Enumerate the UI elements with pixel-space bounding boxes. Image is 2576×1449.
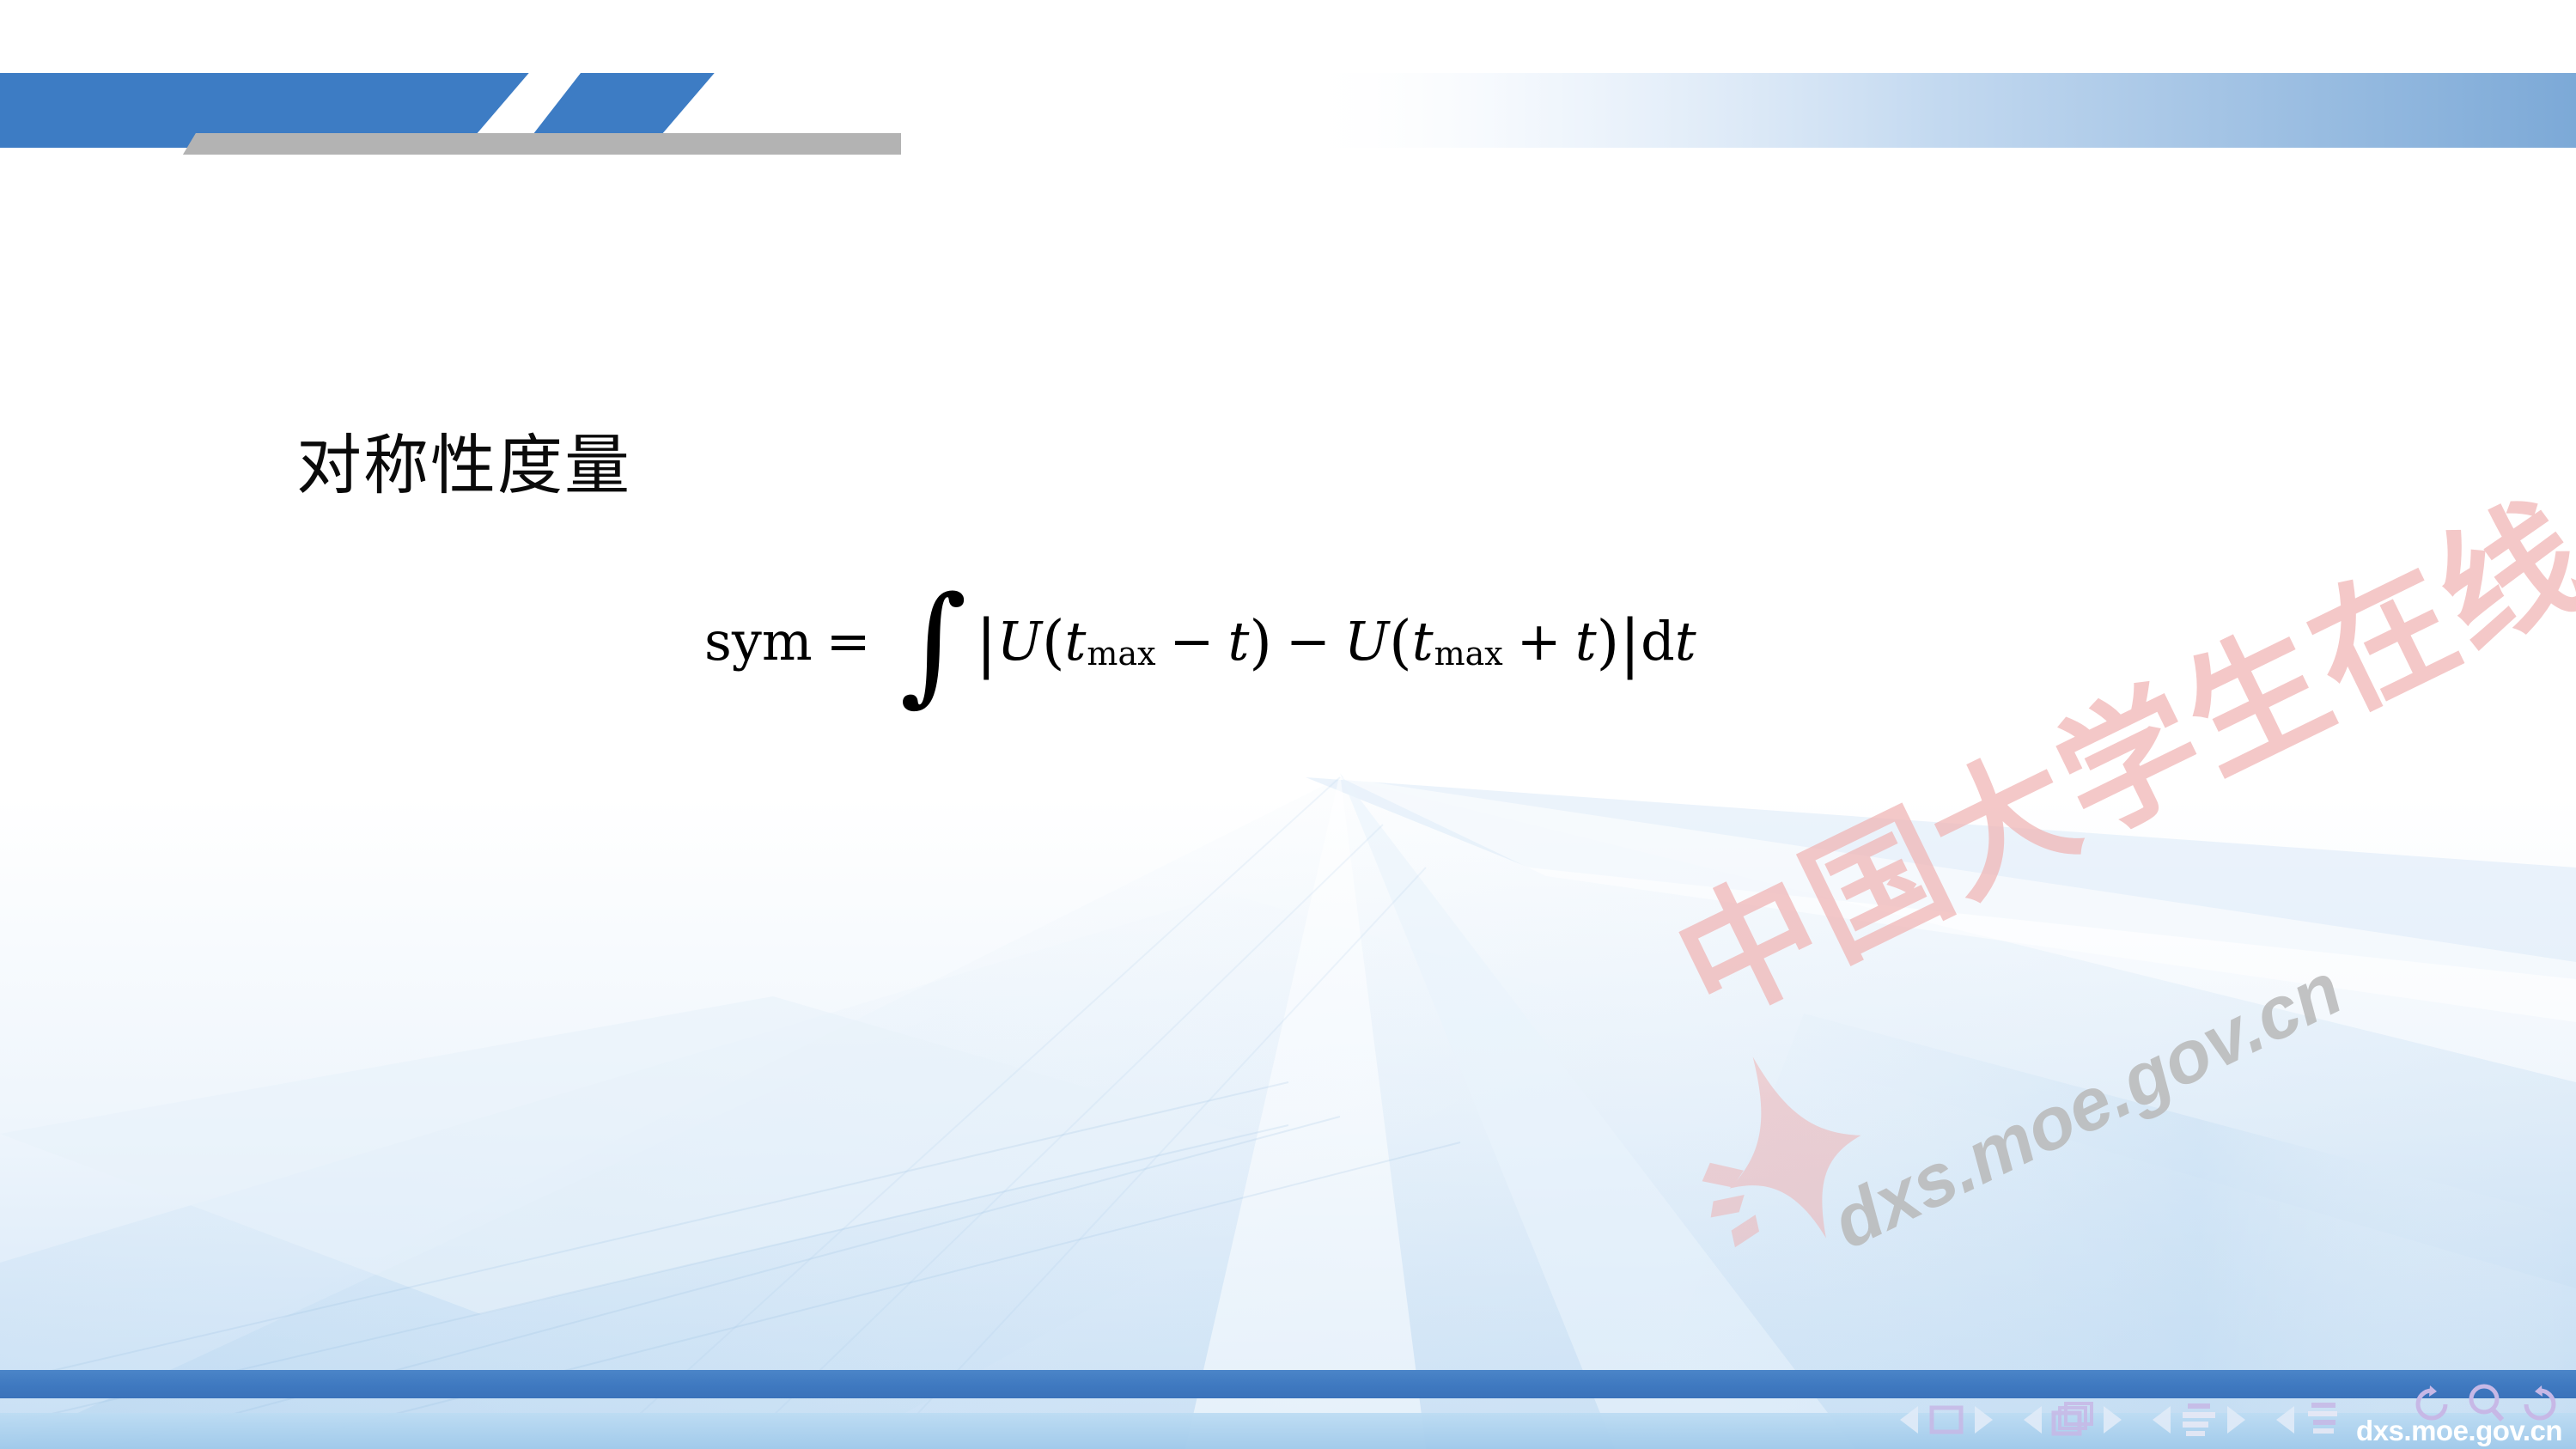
nav-group-section[interactable] <box>2024 1401 2122 1439</box>
symmetry-measure-formula: sym = ∫ | U ( t max − t ) − U ( t max + … <box>704 601 1696 681</box>
formula-paren-close-1: ) <box>1249 609 1272 677</box>
header-slash-white-2 <box>646 69 759 153</box>
slide-footer: dxs.moe.gov.cn <box>0 1346 2576 1449</box>
formula-subscript-max-1: max <box>1087 635 1155 673</box>
header-decoration <box>0 0 2576 180</box>
nav-group-slide[interactable] <box>1900 1403 1993 1437</box>
formula-paren-open-1: ( <box>1042 609 1065 677</box>
formula-t2: t <box>1227 610 1249 673</box>
formula-equals: = <box>826 610 871 673</box>
watermark-url: dxs.moe.gov.cn <box>1819 947 2354 1266</box>
formula-abs-open: | <box>976 615 997 673</box>
formula-u1: U <box>997 610 1042 673</box>
previous-icon[interactable] <box>2276 1406 2294 1434</box>
background-artwork <box>0 0 2576 1449</box>
presentation-slide: 对称性度量 sym = ∫ | U ( t max − t ) − U ( t … <box>0 0 2576 1449</box>
nav-group-detail[interactable] <box>2276 1401 2342 1439</box>
formula-differential-d: d <box>1641 610 1675 673</box>
formula-t4: t <box>1575 610 1597 673</box>
formula-minus-1: − <box>1170 610 1215 673</box>
nav-group-subsection[interactable] <box>2153 1401 2245 1439</box>
formula-paren-close-2: ) <box>1597 609 1620 677</box>
header-gray-bar <box>183 133 901 155</box>
previous-icon[interactable] <box>2024 1406 2042 1434</box>
next-icon[interactable] <box>1975 1406 1993 1434</box>
stacked-windows-icon[interactable] <box>2050 1401 2095 1439</box>
header-blue-slash <box>524 73 713 146</box>
slide-title: 对称性度量 <box>296 429 631 502</box>
formula-lhs: sym <box>704 610 813 673</box>
header-blue-shape <box>0 73 202 148</box>
header-blue-shape-2 <box>0 73 193 148</box>
next-icon[interactable] <box>2104 1406 2122 1434</box>
formula-subscript-max-2: max <box>1434 635 1503 673</box>
previous-icon[interactable] <box>2153 1406 2171 1434</box>
next-icon[interactable] <box>2227 1406 2245 1434</box>
header-slash-white-1 <box>460 69 577 153</box>
slide-navigation-controls[interactable] <box>1900 1401 2373 1439</box>
formula-minus-2: − <box>1286 610 1331 673</box>
header-gradient-band <box>1297 73 2576 148</box>
lines-detail-icon[interactable] <box>2303 1401 2342 1439</box>
square-icon[interactable] <box>1927 1403 1966 1437</box>
star-logo-icon <box>1658 1031 1941 1314</box>
previous-icon[interactable] <box>1900 1406 1918 1434</box>
formula-t5: t <box>1675 610 1696 673</box>
formula-t1: t <box>1064 610 1086 673</box>
formula-plus: + <box>1517 610 1562 673</box>
footer-url: dxs.moe.gov.cn <box>2356 1415 2562 1447</box>
watermark-chinese: 中国大学生在线 <box>1640 445 2576 1056</box>
formula-abs-close: | <box>1619 615 1641 673</box>
formula-t3: t <box>1412 610 1434 673</box>
footer-blue-bar <box>0 1370 2576 1398</box>
lines-list-icon[interactable] <box>2179 1401 2219 1439</box>
formula-paren-open-2: ( <box>1389 609 1412 677</box>
formula-integral-sign: ∫ <box>900 605 967 685</box>
formula-u2: U <box>1344 610 1389 673</box>
